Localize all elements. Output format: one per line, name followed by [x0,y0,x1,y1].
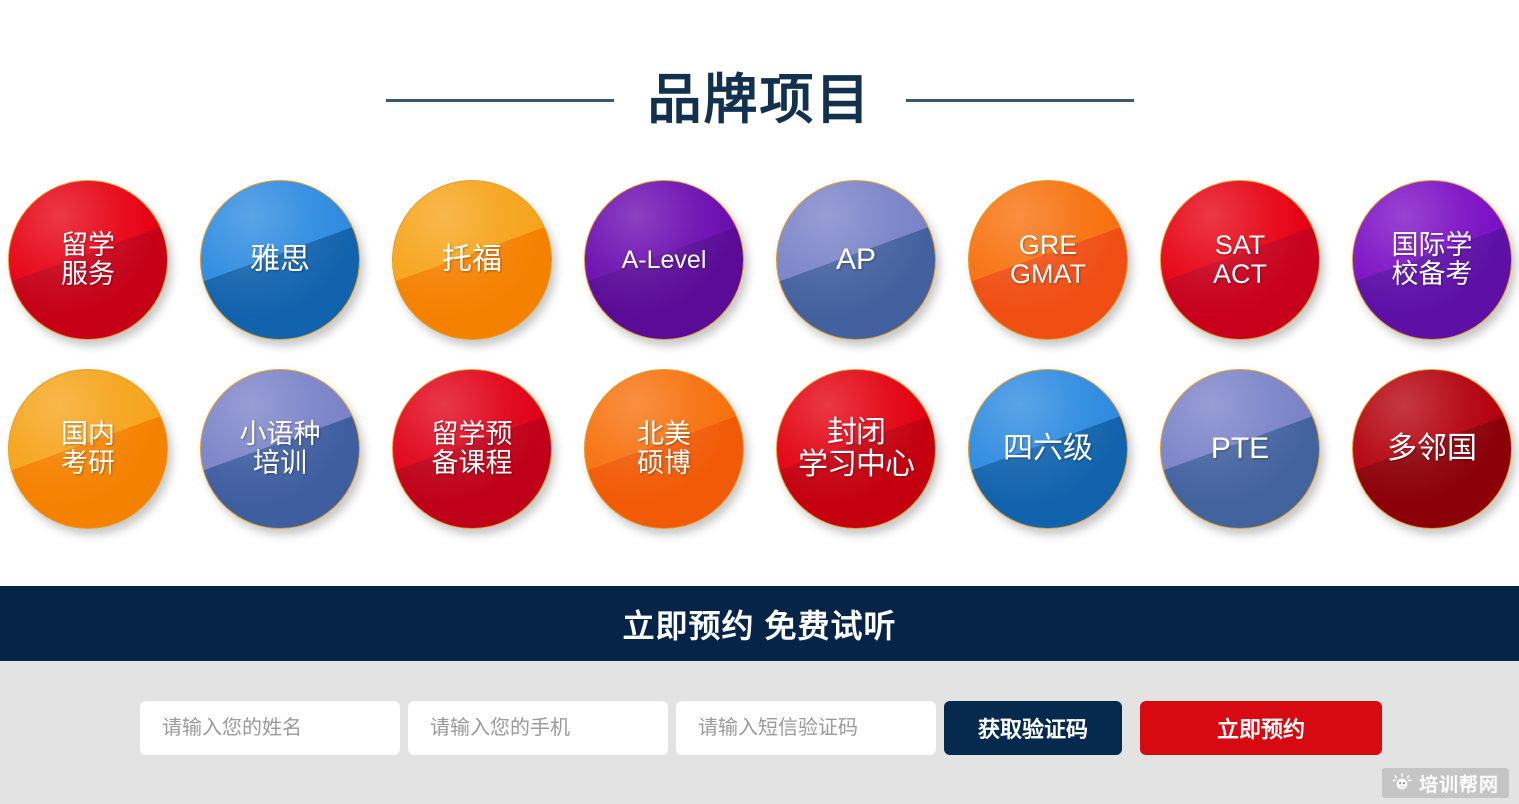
program-bubble-label: AP [834,244,878,276]
phone-input[interactable] [408,701,668,755]
program-bubble[interactable]: 多邻国 [1352,369,1512,529]
program-bubble-label: 国际学 校备考 [1390,231,1475,289]
program-bubble[interactable]: A-Level [584,180,744,340]
header-rule-left [386,99,614,102]
submit-booking-button[interactable]: 立即预约 [1140,701,1382,755]
program-bubble-label: GRE GMAT [1008,231,1088,289]
program-bubble[interactable]: 封闭 学习中心 [776,369,936,529]
header-rule-right [906,99,1134,102]
brand-programs-page: 品牌项目 留学 服务雅思托福A-LevelAPGRE GMATSAT ACT国际… [0,0,1519,804]
program-bubble-label: A-Level [620,247,709,274]
program-bubble-label: 国内 考研 [59,420,117,478]
program-bubble-label: 托福 [440,244,504,276]
program-bubble[interactable]: 国际学 校备考 [1352,180,1512,340]
program-bubble-label: 留学 服务 [59,231,117,289]
program-bubble-label: 封闭 学习中心 [796,417,916,482]
program-bubble[interactable]: 北美 硕博 [584,369,744,529]
program-bubble[interactable]: 雅思 [200,180,360,340]
program-bubble[interactable]: PTE [1160,369,1320,529]
program-bubble-label: 小语种 培训 [238,420,323,478]
program-bubble[interactable]: 留学 服务 [8,180,168,340]
program-bubble[interactable]: SAT ACT [1160,180,1320,340]
program-bubble[interactable]: AP [776,180,936,340]
signup-form-strip: 获取验证码 立即预约 [0,661,1519,804]
program-bubble[interactable]: 小语种 培训 [200,369,360,529]
program-bubble-label: SAT ACT [1211,231,1269,289]
name-input[interactable] [140,701,400,755]
program-bubble-label: 多邻国 [1385,433,1479,465]
sms-code-input[interactable] [676,701,936,755]
program-row-1: 留学 服务雅思托福A-LevelAPGRE GMATSAT ACT国际学 校备考 [8,180,1511,340]
program-bubble-label: 雅思 [248,244,312,276]
program-bubble[interactable]: 四六级 [968,369,1128,529]
page-title: 品牌项目 [648,73,872,127]
booking-banner-text: 立即预约 免费试听 [623,601,897,647]
site-watermark: 培训帮网 [1382,768,1509,798]
section-header: 品牌项目 [0,58,1519,142]
program-bubble-label: 四六级 [1001,433,1095,465]
program-bubble-label: 留学预 备课程 [430,420,515,478]
program-bubble[interactable]: 国内 考研 [8,369,168,529]
get-code-button[interactable]: 获取验证码 [944,701,1122,755]
program-row-2: 国内 考研小语种 培训留学预 备课程北美 硕博封闭 学习中心四六级PTE多邻国 [8,369,1511,529]
program-bubble-label: PTE [1209,433,1271,465]
watermark-text: 培训帮网 [1419,770,1499,797]
program-bubble[interactable]: 托福 [392,180,552,340]
program-bubble[interactable]: GRE GMAT [968,180,1128,340]
program-grid: 留学 服务雅思托福A-LevelAPGRE GMATSAT ACT国际学 校备考… [8,180,1511,558]
signup-form: 获取验证码 立即预约 [140,701,1382,755]
sun-face-icon [1392,773,1412,793]
program-bubble[interactable]: 留学预 备课程 [392,369,552,529]
program-bubble-label: 北美 硕博 [635,420,693,478]
booking-banner: 立即预约 免费试听 [0,586,1519,661]
